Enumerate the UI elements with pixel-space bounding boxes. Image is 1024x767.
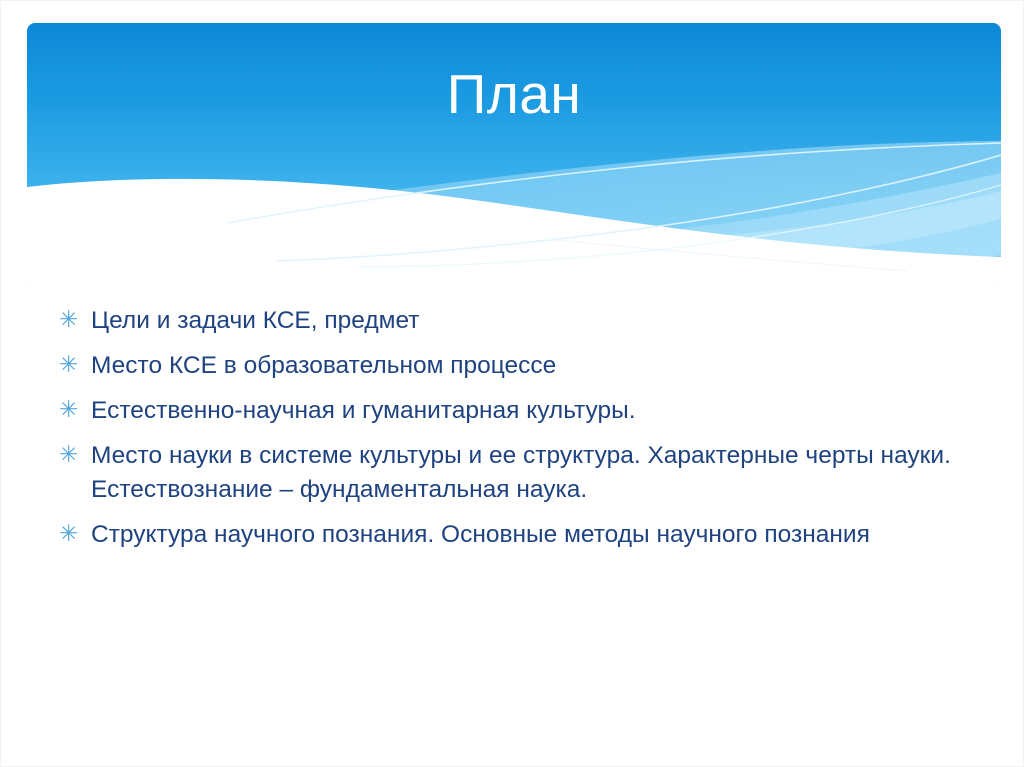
asterisk-bullet-icon: ✳ — [55, 518, 91, 551]
asterisk-bullet-icon: ✳ — [55, 394, 91, 427]
list-item: ✳ Место науки в системе культуры и ее ст… — [55, 439, 967, 507]
list-item-label: Естественно-научная и гуманитарная культ… — [91, 394, 967, 428]
list-item-label: Цели и задачи КСЕ, предмет — [91, 304, 967, 338]
asterisk-bullet-icon: ✳ — [55, 349, 91, 382]
page-title: План — [27, 61, 1001, 127]
asterisk-bullet-icon: ✳ — [55, 439, 91, 472]
asterisk-bullet-icon: ✳ — [55, 304, 91, 337]
list-item: ✳ Цели и задачи КСЕ, предмет — [55, 304, 967, 338]
list-item: ✳ Структура научного познания. Основные … — [55, 518, 967, 552]
list-item-label: Место науки в системе культуры и ее стру… — [91, 439, 967, 507]
presentation-slide: План ✳ Цели и задачи КСЕ, предмет ✳ Мест… — [0, 0, 1024, 767]
list-item: ✳ Естественно-научная и гуманитарная кул… — [55, 394, 967, 428]
list-item-label: Место КСЕ в образовательном процессе — [91, 349, 967, 383]
list-item-label: Структура научного познания. Основные ме… — [91, 518, 967, 552]
list-item: ✳ Место КСЕ в образовательном процессе — [55, 349, 967, 383]
bullet-list: ✳ Цели и задачи КСЕ, предмет ✳ Место КСЕ… — [55, 304, 967, 563]
